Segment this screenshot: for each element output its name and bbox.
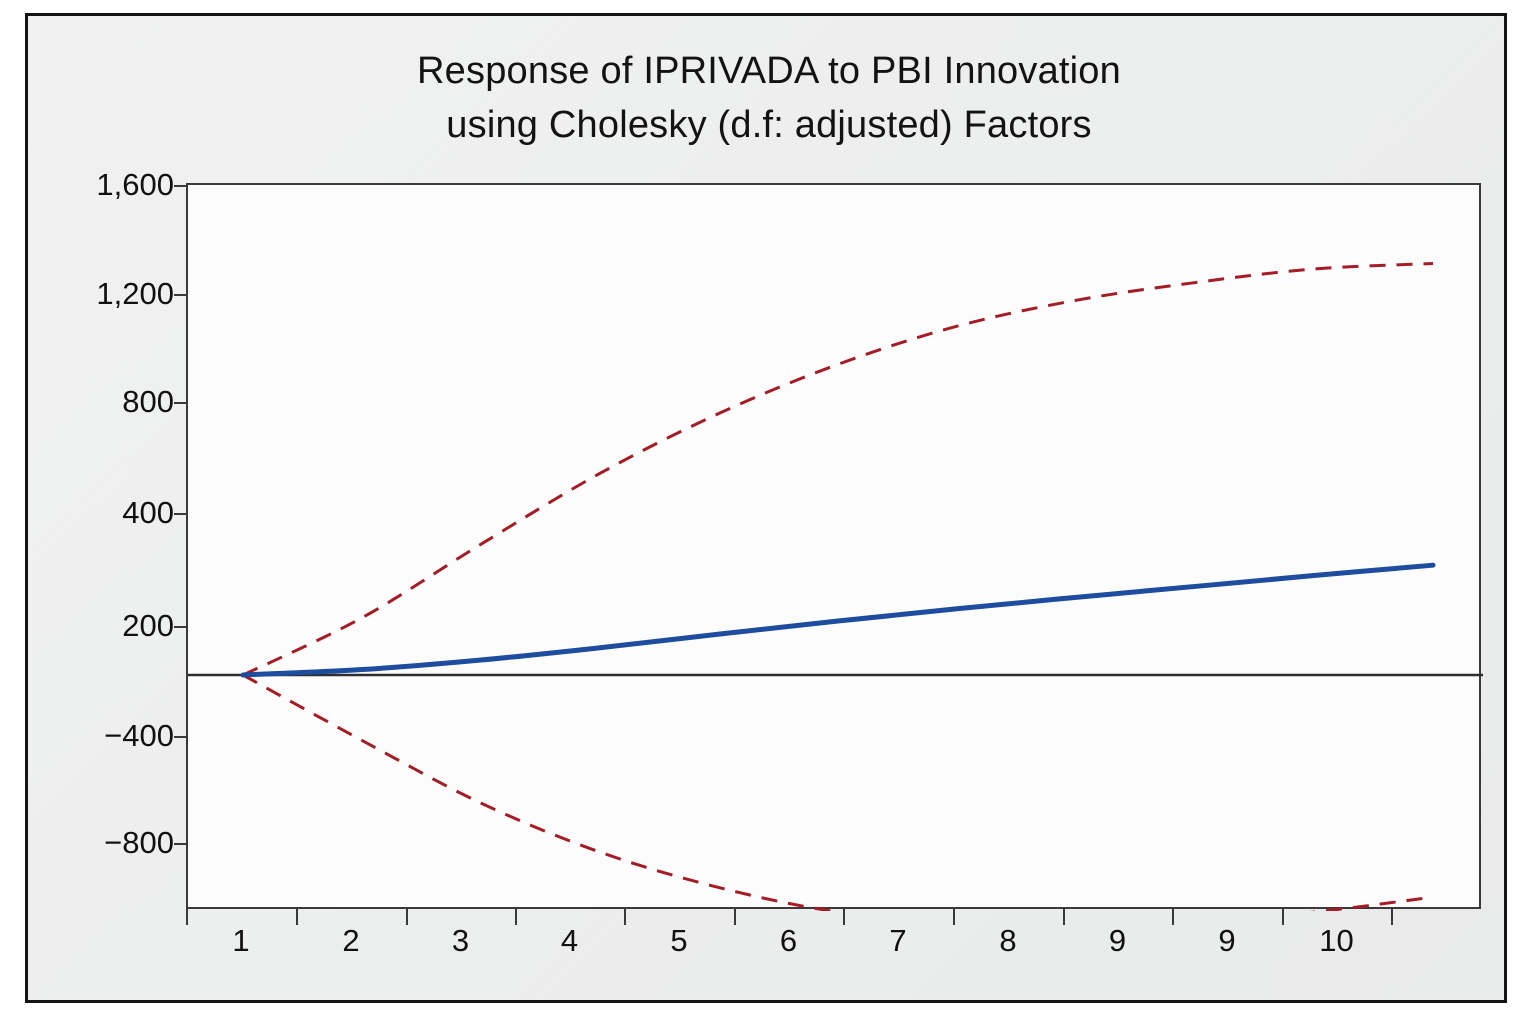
x-axis-label: 9 [1187, 924, 1267, 958]
x-axis-label: 8 [968, 924, 1048, 958]
x-axis-tick [406, 909, 408, 925]
x-axis-tick [515, 909, 517, 925]
x-axis-label: 7 [858, 924, 938, 958]
x-axis-label: 3 [421, 924, 501, 958]
x-axis-label: 1 [201, 924, 281, 958]
x-axis-tick [1391, 909, 1393, 925]
plot-area [186, 183, 1481, 909]
upper-confidence-band [243, 264, 1433, 675]
figure-panel: Response of IPRIVADA to PBI Innovation u… [25, 13, 1507, 1003]
lower-confidence-band [243, 675, 1433, 911]
x-axis-label: 10 [1297, 924, 1377, 958]
x-axis-tick [186, 909, 188, 925]
x-axis-tick [296, 909, 298, 925]
x-axis-label: 4 [530, 924, 610, 958]
chart-screenshot: Response of IPRIVADA to PBI Innovation u… [0, 0, 1536, 1024]
x-axis-tick [1282, 909, 1284, 925]
x-axis-label: 6 [749, 924, 829, 958]
x-axis-tick [1172, 909, 1174, 925]
x-axis-label: 9 [1078, 924, 1158, 958]
x-axis-tick [843, 909, 845, 925]
x-axis-tick [624, 909, 626, 925]
x-axis-tick [1063, 909, 1065, 925]
x-axis-tick [953, 909, 955, 925]
x-axis-tick [734, 909, 736, 925]
plot-canvas [188, 185, 1483, 911]
x-axis-label: 2 [311, 924, 391, 958]
x-axis-label: 5 [639, 924, 719, 958]
